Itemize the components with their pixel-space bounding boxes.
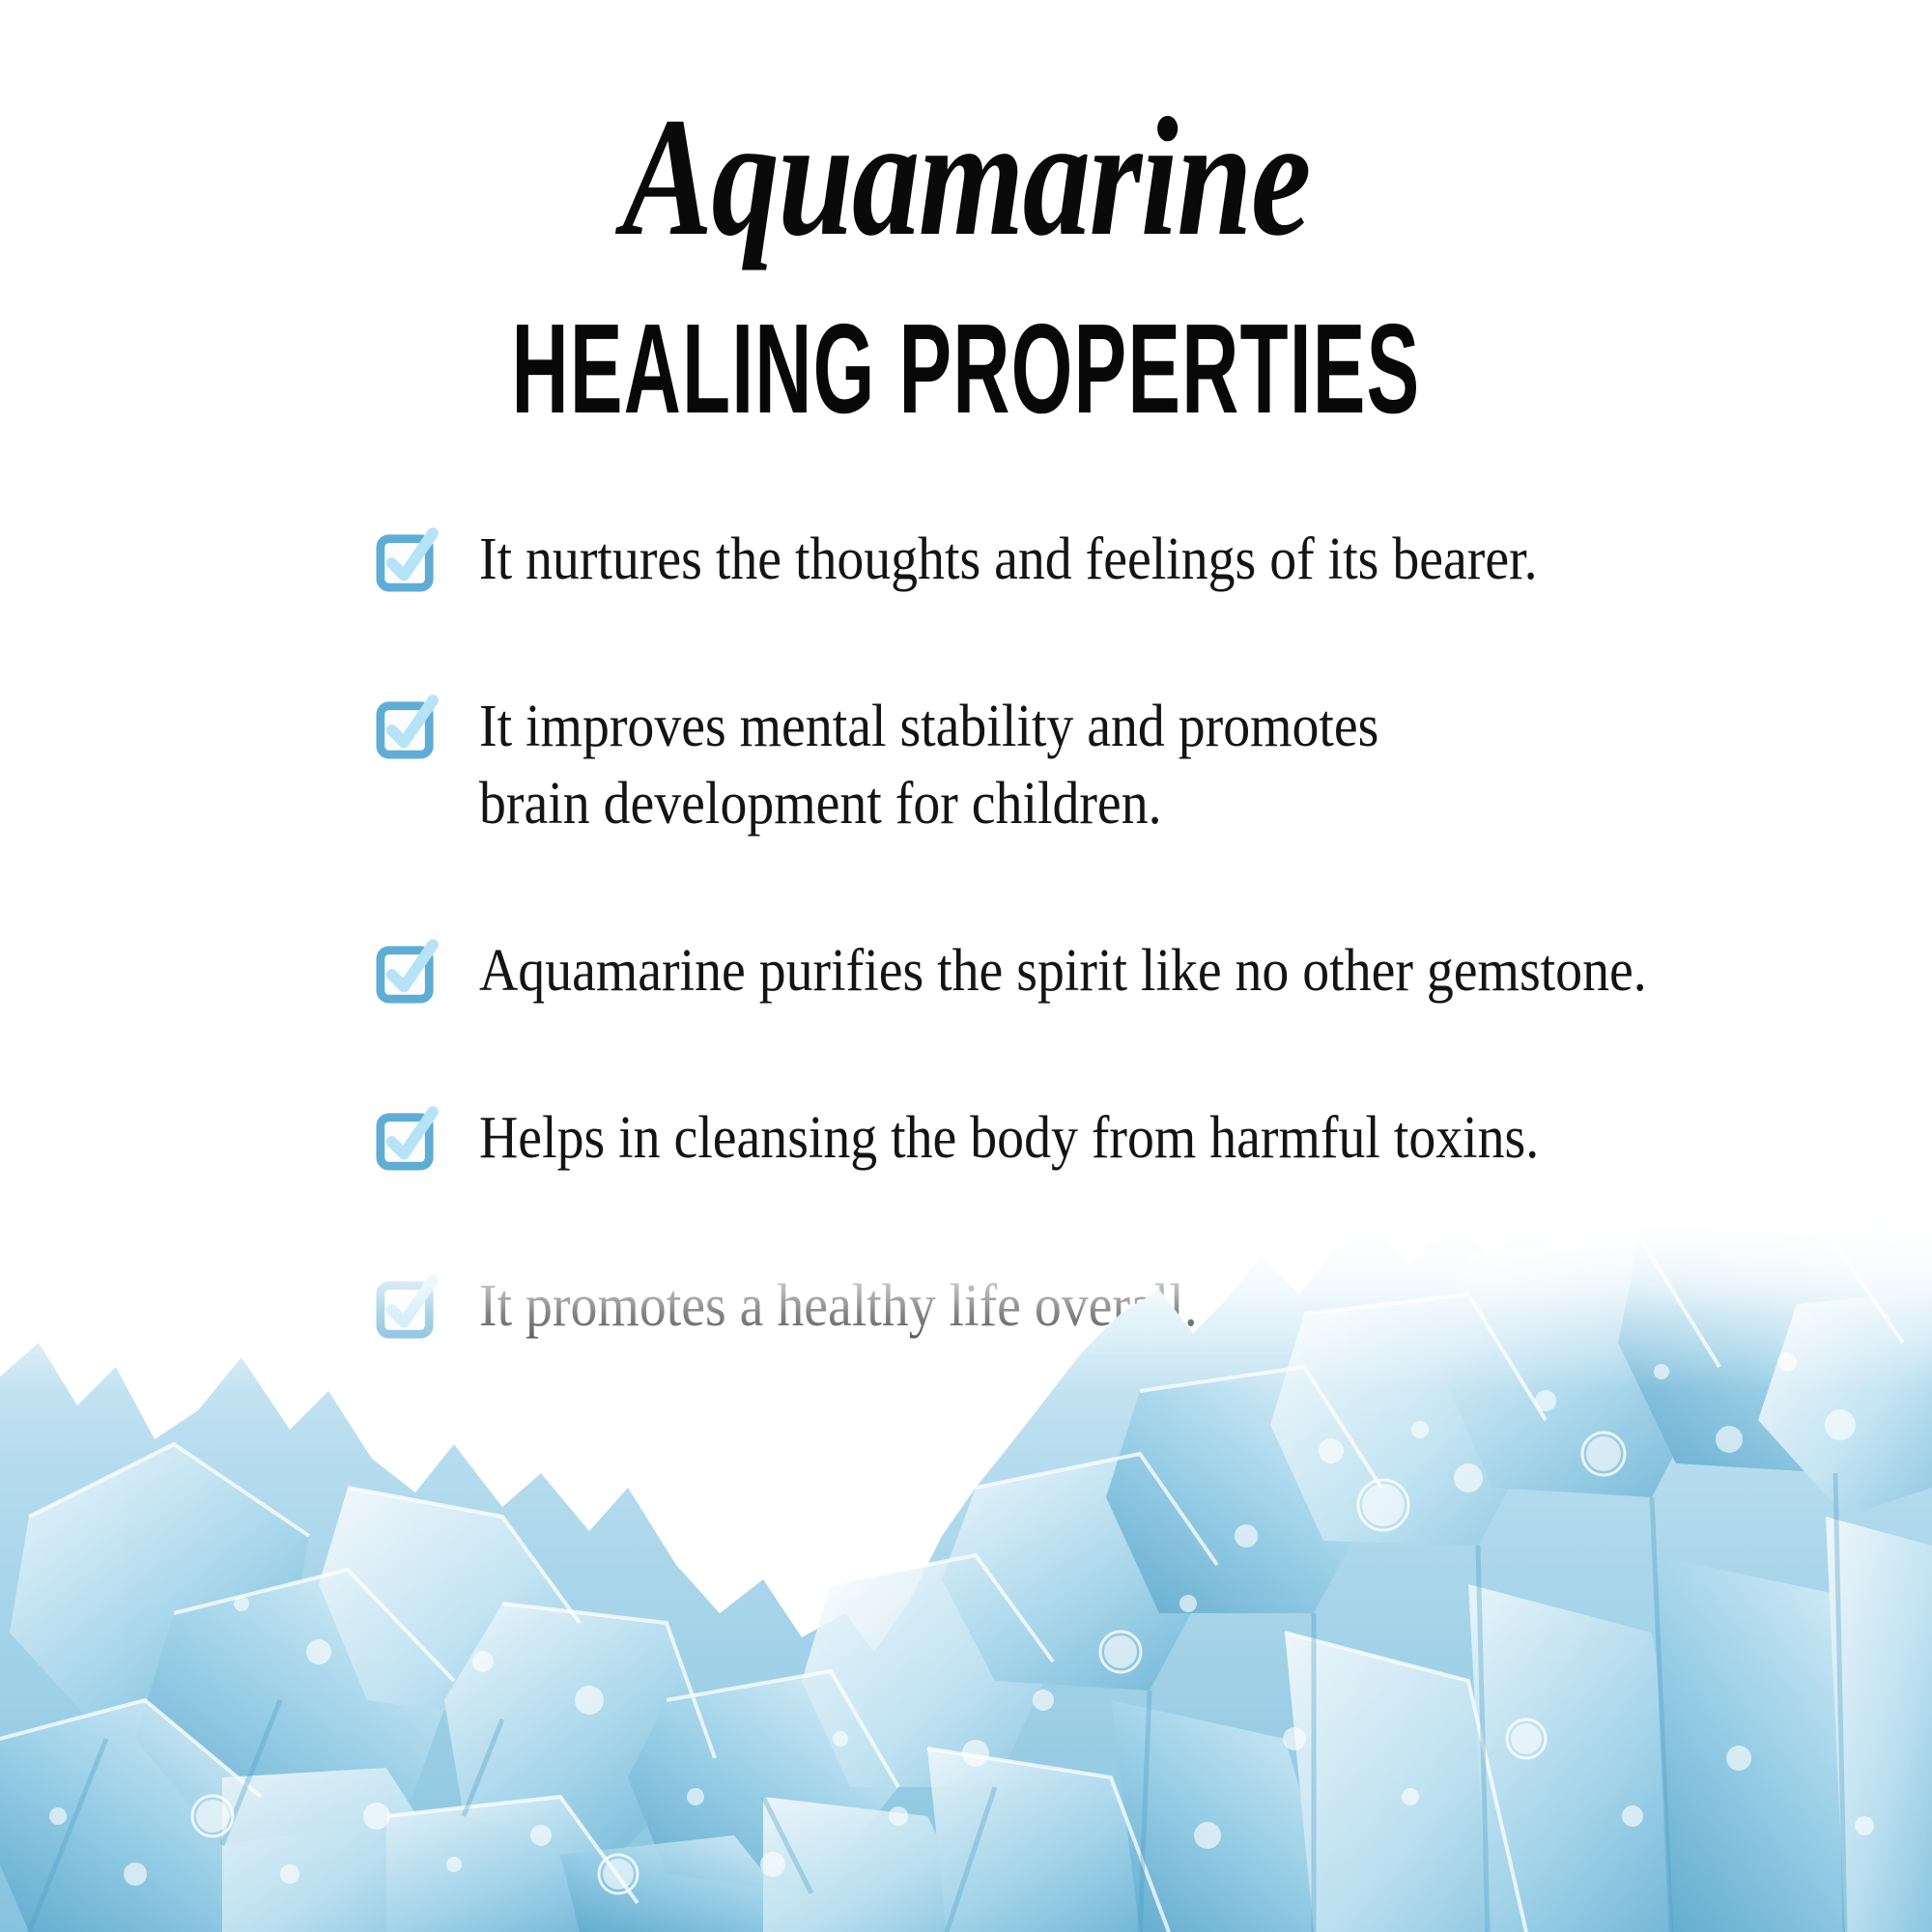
page-title: Aquamarine [193,93,1739,263]
list-item-label: It improves mental stability and promote… [479,689,1378,842]
list-item-label: Helps in cleansing the body from harmful… [479,1100,1539,1177]
list-item: Aquamarine purifies the spirit like no o… [377,933,1826,1009]
list-item-label: Aquamarine purifies the spirit like no o… [479,933,1647,1009]
poster-canvas: Aquamarine HEALING PROPERTIES It nurture… [0,0,1932,1932]
checked-checkbox-icon [377,943,437,1003]
poster-header: Aquamarine HEALING PROPERTIES [0,0,1932,433]
crushed-ice-photo-band [0,1198,1932,1932]
checked-checkbox-icon [377,531,437,591]
page-subtitle: HEALING PROPERTIES [367,305,1565,433]
list-item: Helps in cleansing the body from harmful… [377,1100,1826,1177]
list-item: It nurtures the thoughts and feelings of… [377,522,1826,598]
checked-checkbox-icon [377,1110,437,1170]
list-item: It improves mental stability and promote… [377,689,1826,842]
list-item-label: It nurtures the thoughts and feelings of… [479,522,1538,598]
checked-checkbox-icon [377,698,437,758]
